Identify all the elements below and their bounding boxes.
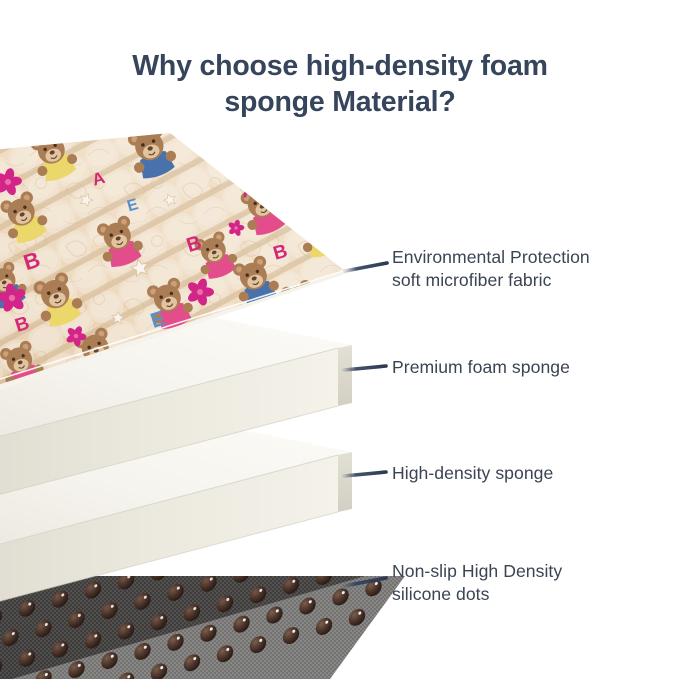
label-premium-foam-sponge: Premium foam sponge xyxy=(392,356,570,379)
label-high-density-sponge: High-density sponge xyxy=(392,462,553,485)
leader-lines xyxy=(344,263,387,586)
page-title: Why choose high-density foam sponge Mate… xyxy=(70,48,610,121)
label-non-slip-silicone-dots: Non-slip High Density silicone dots xyxy=(392,560,562,606)
leader-line-1 xyxy=(345,263,387,271)
star-motif xyxy=(254,311,270,327)
label-environmental-protection: Environmental Protection soft microfiber… xyxy=(392,246,590,292)
infographic-canvas: BBAAEBBBE Why choose high-density foam s… xyxy=(0,0,679,679)
